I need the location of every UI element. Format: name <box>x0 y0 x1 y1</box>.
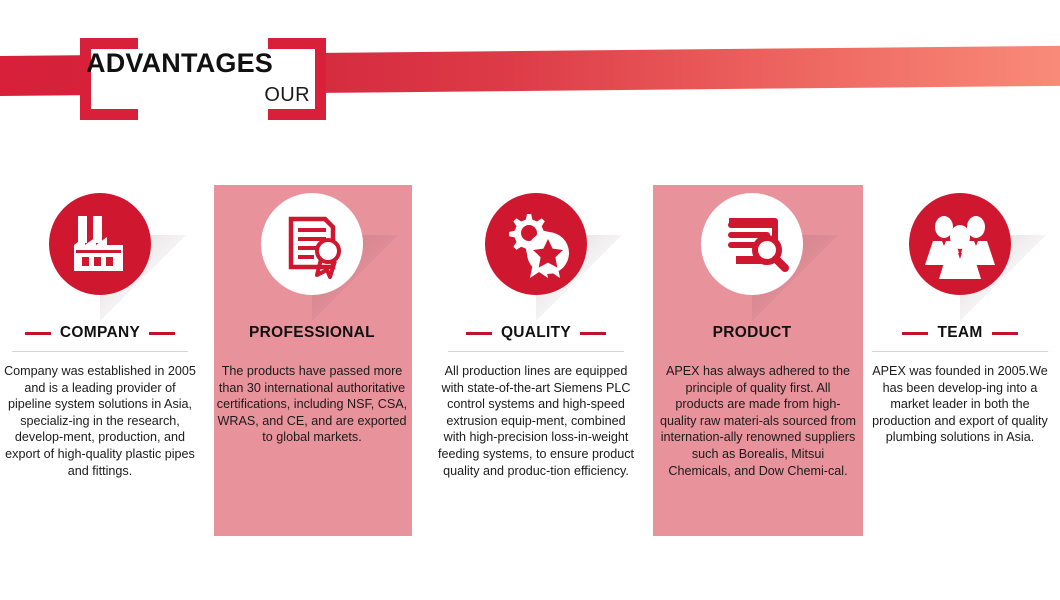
card-heading: PROFESSIONAL <box>249 324 375 342</box>
right-bracket-bottom-arm <box>268 109 326 120</box>
card-heading: QUALITY <box>501 324 571 342</box>
advantages-page: ADVANTAGES OUR <box>0 0 1060 600</box>
certificate-award-icon <box>261 193 363 295</box>
heading-dash-right <box>580 332 606 335</box>
card-body-text: APEX was founded in 2005.We has been dev… <box>864 363 1056 446</box>
heading-dash-right <box>992 332 1018 335</box>
icon-area <box>652 185 852 310</box>
card-heading-row: PRODUCT <box>652 320 852 346</box>
factory-icon <box>49 193 151 295</box>
gear-star-badge-icon <box>485 193 587 295</box>
document-search-icon <box>701 193 803 295</box>
card-heading-row: TEAM <box>860 320 1060 346</box>
card-body-text: APEX has always adhered to the principle… <box>660 363 856 479</box>
card-heading: TEAM <box>937 324 982 342</box>
card-heading: PRODUCT <box>713 324 792 342</box>
card-body-text: The products have passed more than 30 in… <box>216 363 408 446</box>
card-body-text: All production lines are equipped with s… <box>438 363 634 479</box>
page-subtitle: OUR <box>86 84 310 106</box>
card-divider <box>12 351 188 352</box>
left-bracket-bottom-arm <box>80 109 138 120</box>
card-heading-row: COMPANY <box>0 320 200 346</box>
icon-area <box>212 185 412 310</box>
header-banner: ADVANTAGES OUR <box>0 0 1060 140</box>
advantage-card-list: COMPANY Company was established in 2005 … <box>0 170 1060 570</box>
card-divider <box>872 351 1048 352</box>
card-heading-row: QUALITY <box>436 320 636 346</box>
heading-dash-right <box>149 332 175 335</box>
page-title: ADVANTAGES <box>86 48 326 78</box>
heading-dash-left <box>902 332 928 335</box>
heading-dash-left <box>25 332 51 335</box>
icon-area <box>0 185 200 310</box>
heading-dash-left <box>466 332 492 335</box>
icon-area <box>860 185 1060 310</box>
card-body-text: Company was established in 2005 and is a… <box>4 363 196 479</box>
team-people-icon <box>909 193 1011 295</box>
card-heading: COMPANY <box>60 324 140 342</box>
card-heading-row: PROFESSIONAL <box>212 320 412 346</box>
card-divider <box>448 351 624 352</box>
icon-area <box>436 185 636 310</box>
